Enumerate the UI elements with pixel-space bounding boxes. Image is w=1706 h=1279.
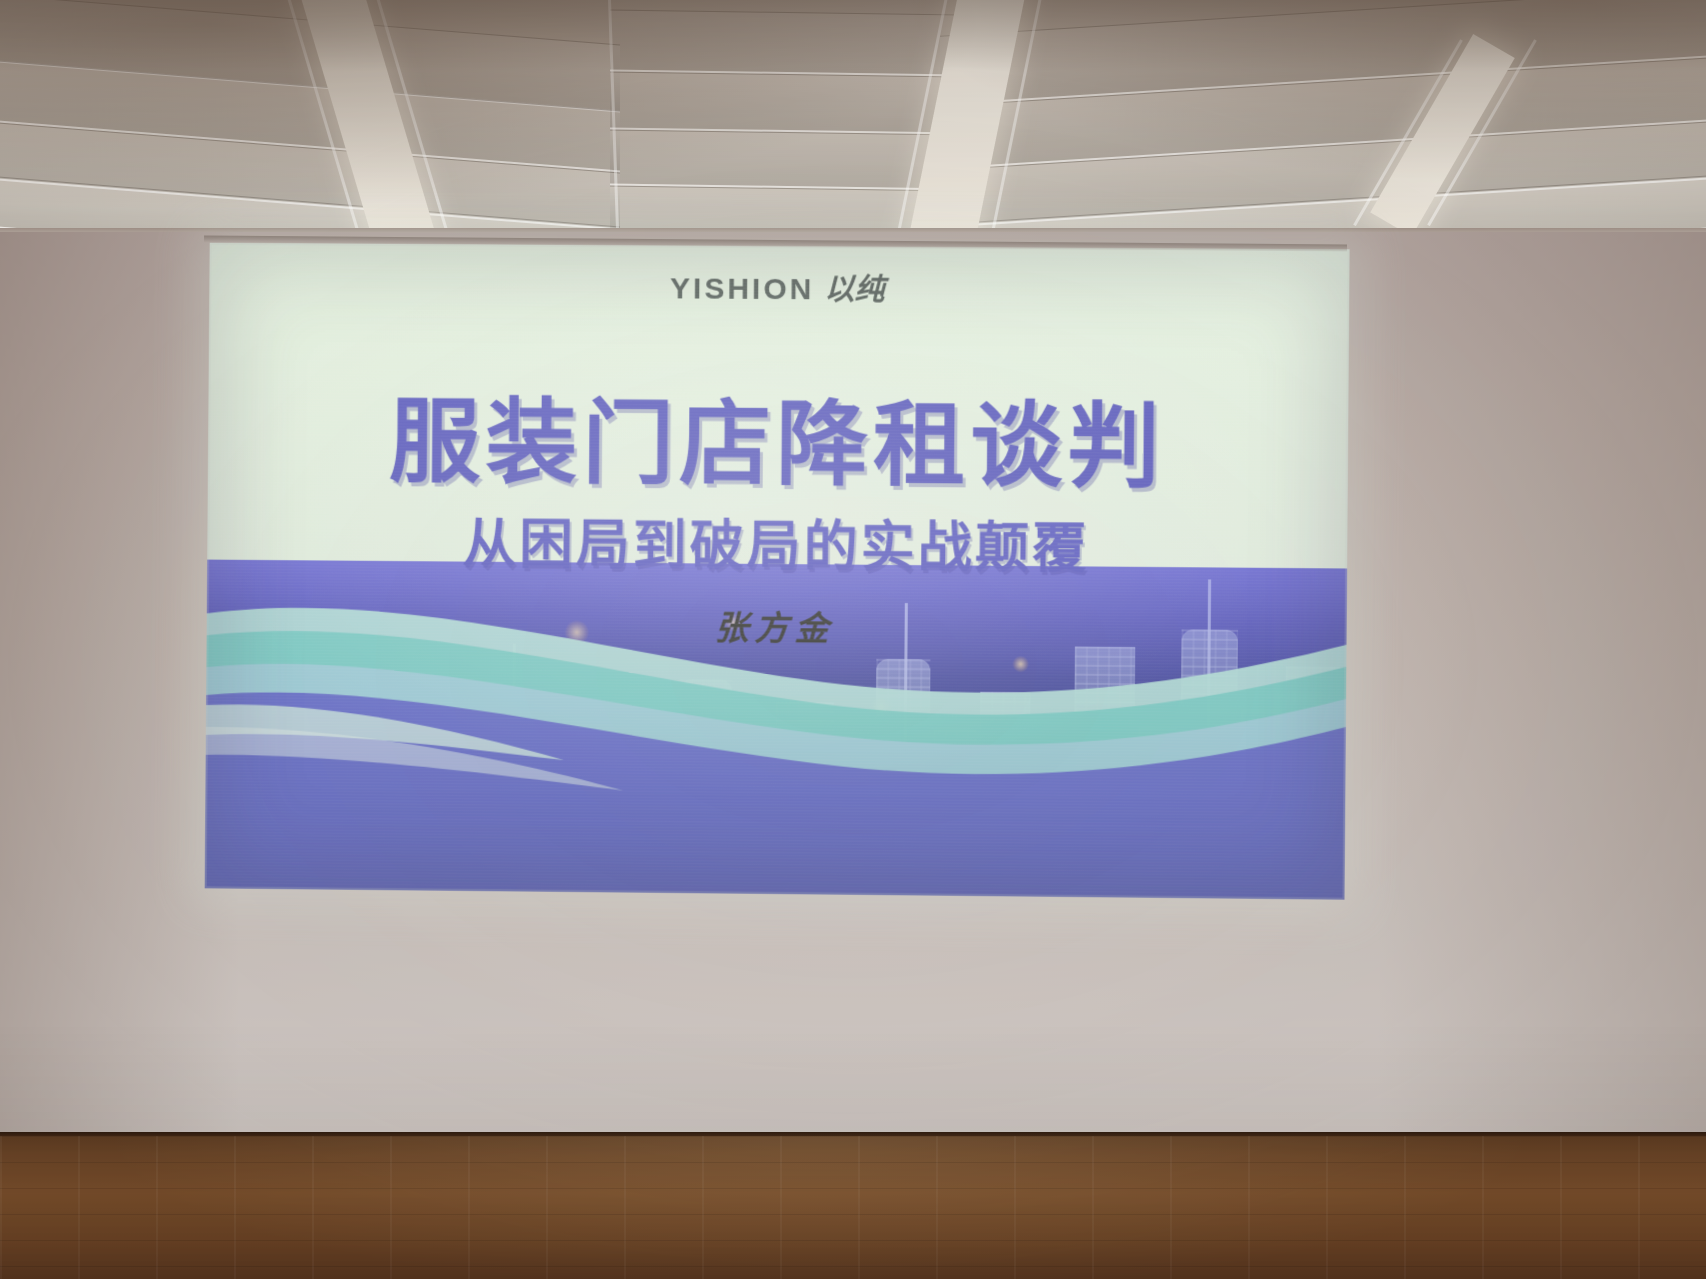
ceiling-panel: [610, 72, 960, 135]
presentation-slide: YISHION以纯 服装门店降租谈判 从困局到破局的实战颠覆 张方金: [205, 243, 1350, 900]
suspended-ceiling: [0, 0, 1706, 238]
presenter-signature: 张方金: [207, 596, 1347, 654]
brand-logo-latin: YISHION: [670, 272, 815, 306]
ceiling-panel: [610, 10, 960, 77]
brand-logo-chinese: 以纯: [824, 272, 884, 307]
slide-subtitle: 从困局到破局的实战颠覆: [207, 498, 1347, 586]
projection-screen[interactable]: YISHION以纯 服装门店降租谈判 从困局到破局的实战颠覆 张方金: [205, 243, 1350, 900]
conference-room-scene: YISHION以纯 服装门店降租谈判 从困局到破局的实战颠覆 张方金: [0, 0, 1706, 1279]
brand-logo: YISHION以纯: [209, 261, 1349, 312]
slide-title: 服装门店降租谈判: [208, 366, 1349, 507]
wood-floor: [0, 1136, 1706, 1279]
